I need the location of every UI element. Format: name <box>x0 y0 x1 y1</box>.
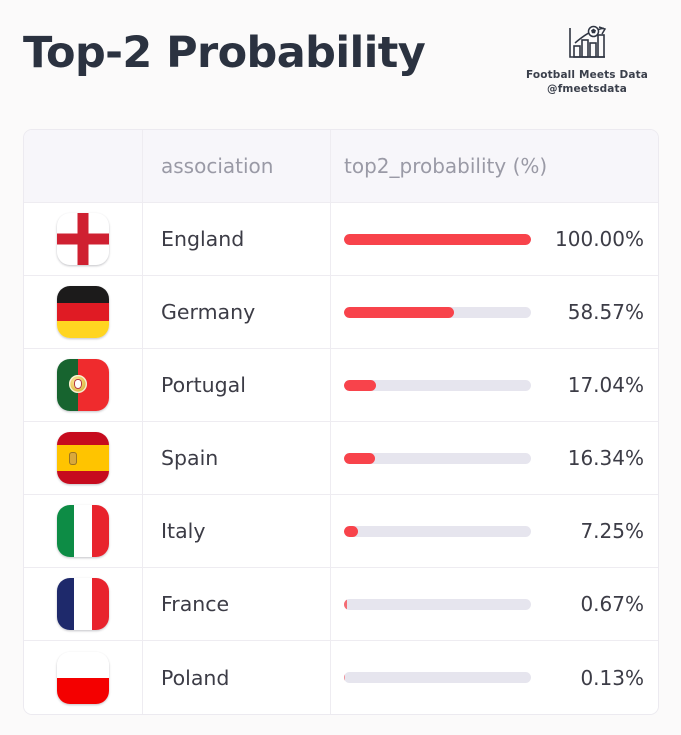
table-header-cell-flag <box>24 130 143 202</box>
probability-bar-fill <box>344 380 376 391</box>
band-red-bottom <box>57 471 109 484</box>
probability-table: association top2_probability (%) England <box>23 129 659 715</box>
cell-flag <box>24 422 143 494</box>
crest-shield <box>74 379 82 389</box>
cell-probability: 16.34% <box>331 422 658 494</box>
bar-chart-football-icon <box>566 24 608 64</box>
probability-bar-fill <box>344 526 358 537</box>
brand-block: Football Meets Data @fmeetsdata <box>519 24 655 97</box>
cell-association: Italy <box>143 495 331 567</box>
probability-bar-fill <box>344 672 345 683</box>
flag-germany-icon <box>57 286 109 338</box>
cell-association: Spain <box>143 422 331 494</box>
cell-flag <box>24 568 143 640</box>
table-row: Germany 58.57% <box>24 276 658 349</box>
infographic-card: Top-2 Probability Football Meets Data @f… <box>0 0 681 735</box>
cell-flag <box>24 276 143 348</box>
table-row: Poland 0.13% <box>24 641 658 714</box>
band-black <box>57 286 109 303</box>
cell-probability: 58.57% <box>331 276 658 348</box>
brand-name: Football Meets Data <box>519 69 655 83</box>
band-blue <box>57 578 74 630</box>
cell-probability: 0.67% <box>331 568 658 640</box>
flag-italy-icon <box>57 505 109 557</box>
table-row: France 0.67% <box>24 568 658 641</box>
probability-label: 0.67% <box>541 592 644 616</box>
card-header: Top-2 Probability Football Meets Data @f… <box>0 0 681 122</box>
probability-label: 58.57% <box>541 300 644 324</box>
table-row: Italy 7.25% <box>24 495 658 568</box>
flag-spain-icon <box>57 432 109 484</box>
band-white <box>74 578 91 630</box>
probability-label: 7.25% <box>541 519 644 543</box>
probability-label: 16.34% <box>541 446 644 470</box>
band-red <box>57 678 109 704</box>
table-row: Portugal 17.04% <box>24 349 658 422</box>
cell-probability: 7.25% <box>331 495 658 567</box>
probability-bar-track <box>344 526 531 537</box>
brand-handle: @fmeetsdata <box>519 83 655 97</box>
probability-bar-fill <box>344 234 531 245</box>
crest <box>69 375 87 393</box>
probability-bar-track <box>344 234 531 245</box>
band-green <box>57 505 74 557</box>
association-label: England <box>161 227 244 251</box>
cell-association: France <box>143 568 331 640</box>
page-title: Top-2 Probability <box>23 28 425 78</box>
cell-association: England <box>143 203 331 275</box>
association-label: Italy <box>161 519 205 543</box>
probability-label: 0.13% <box>541 666 644 690</box>
flag-poland-icon <box>57 652 109 704</box>
association-label: Portugal <box>161 373 246 397</box>
column-header-association: association <box>161 154 273 178</box>
cross-horizontal <box>57 234 109 245</box>
flag-portugal-icon <box>57 359 109 411</box>
association-label: Germany <box>161 300 255 324</box>
band-gold <box>57 321 109 338</box>
band-yellow <box>57 445 109 471</box>
cell-association: Portugal <box>143 349 331 421</box>
table-row: England 100.00% <box>24 203 658 276</box>
band-red-top <box>57 432 109 445</box>
probability-bar-track <box>344 307 531 318</box>
probability-label: 100.00% <box>541 227 644 251</box>
association-label: Spain <box>161 446 218 470</box>
probability-label: 17.04% <box>541 373 644 397</box>
flag-france-icon <box>57 578 109 630</box>
probability-bar-track <box>344 380 531 391</box>
band-white <box>57 652 109 678</box>
cell-flag <box>24 349 143 421</box>
probability-bar-track <box>344 672 531 683</box>
cell-flag <box>24 641 143 714</box>
coat-of-arms <box>69 452 77 466</box>
band-red <box>92 578 109 630</box>
flag-england-icon <box>57 213 109 265</box>
probability-bar-fill <box>344 453 375 464</box>
band-red <box>92 505 109 557</box>
probability-bar-track <box>344 599 531 610</box>
cell-probability: 100.00% <box>331 203 658 275</box>
table-header-cell-association: association <box>143 130 331 202</box>
association-label: Poland <box>161 666 229 690</box>
cell-probability: 0.13% <box>331 641 658 714</box>
association-label: France <box>161 592 229 616</box>
cell-association: Germany <box>143 276 331 348</box>
column-header-probability: top2_probability (%) <box>344 154 547 178</box>
band-white <box>74 505 91 557</box>
cell-flag <box>24 203 143 275</box>
table-header-cell-probability: top2_probability (%) <box>331 130 658 202</box>
band-red <box>57 303 109 320</box>
probability-bar-track <box>344 453 531 464</box>
probability-bar-fill <box>344 307 454 318</box>
table-header-row: association top2_probability (%) <box>24 130 658 203</box>
cell-association: Poland <box>143 641 331 714</box>
cell-flag <box>24 495 143 567</box>
cell-probability: 17.04% <box>331 349 658 421</box>
table-row: Spain 16.34% <box>24 422 658 495</box>
probability-bar-fill <box>344 599 347 610</box>
